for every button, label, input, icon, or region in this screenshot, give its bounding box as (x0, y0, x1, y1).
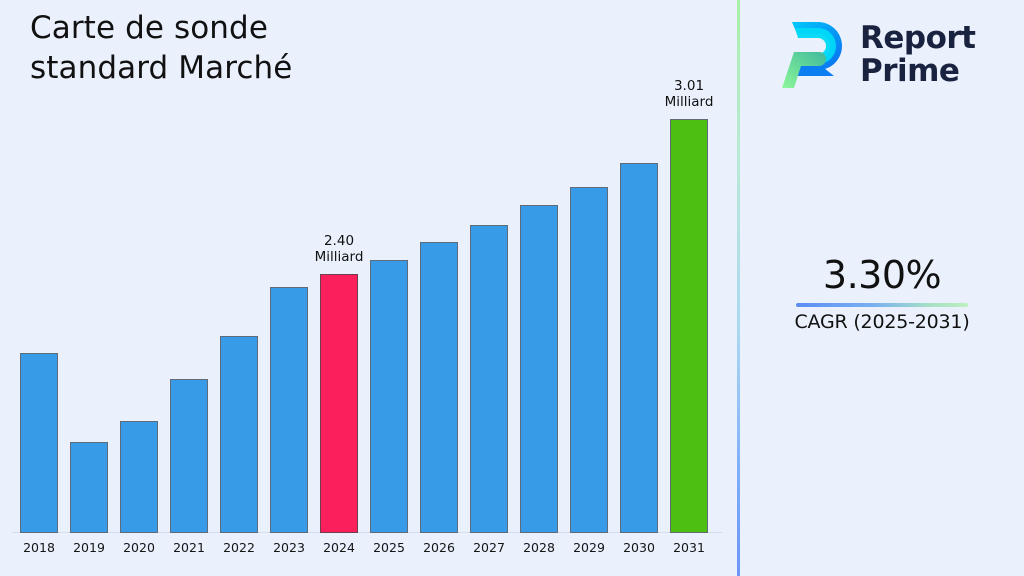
x-tick-2027: 2027 (461, 540, 517, 555)
brand-logo: Report Prime (772, 12, 1000, 98)
bar-2021 (170, 379, 208, 533)
x-tick-2028: 2028 (511, 540, 567, 555)
cagr-block: 3.30% CAGR (2025-2031) (750, 255, 1014, 333)
bar-value-label-2024: 2.40 Milliard (291, 234, 387, 266)
bar-2022 (220, 336, 258, 533)
x-tick-2025: 2025 (361, 540, 417, 555)
x-tick-2029: 2029 (561, 540, 617, 555)
chart-page: Carte de sonde standard Marché 201820192… (0, 0, 1024, 576)
x-tick-2018: 2018 (11, 540, 67, 555)
bar-2030 (620, 163, 658, 533)
bar-2027 (470, 225, 508, 533)
cagr-label: CAGR (2025-2031) (750, 311, 1014, 333)
x-tick-2031: 2031 (661, 540, 717, 555)
bar-2028 (520, 205, 558, 533)
brand-name: Report Prime (860, 22, 976, 87)
bar-2031 (670, 119, 708, 533)
bar-2018 (20, 353, 58, 533)
bar-2020 (120, 421, 158, 533)
bar-2024 (320, 274, 358, 533)
x-tick-2020: 2020 (111, 540, 167, 555)
x-tick-2026: 2026 (411, 540, 467, 555)
side-panel: Report Prime 3.30% CAGR (2025-2031) (740, 0, 1024, 576)
bar-2029 (570, 187, 608, 533)
bar-value-label-2031: 3.01 Milliard (641, 79, 737, 111)
x-tick-2024: 2024 (311, 540, 367, 555)
report-prime-monogram-icon (772, 16, 848, 94)
x-tick-2021: 2021 (161, 540, 217, 555)
x-axis-line (12, 532, 722, 533)
x-tick-2030: 2030 (611, 540, 667, 555)
cagr-divider-rule (796, 303, 968, 307)
cagr-value: 3.30% (750, 255, 1014, 297)
x-tick-2022: 2022 (211, 540, 267, 555)
bar-2026 (420, 242, 458, 533)
x-tick-2019: 2019 (61, 540, 117, 555)
bar-2019 (70, 442, 108, 533)
bar-2025 (370, 260, 408, 533)
bar-chart: 2018201920202021202220232024202520262027… (0, 0, 737, 576)
bar-2023 (270, 287, 308, 533)
x-tick-2023: 2023 (261, 540, 317, 555)
